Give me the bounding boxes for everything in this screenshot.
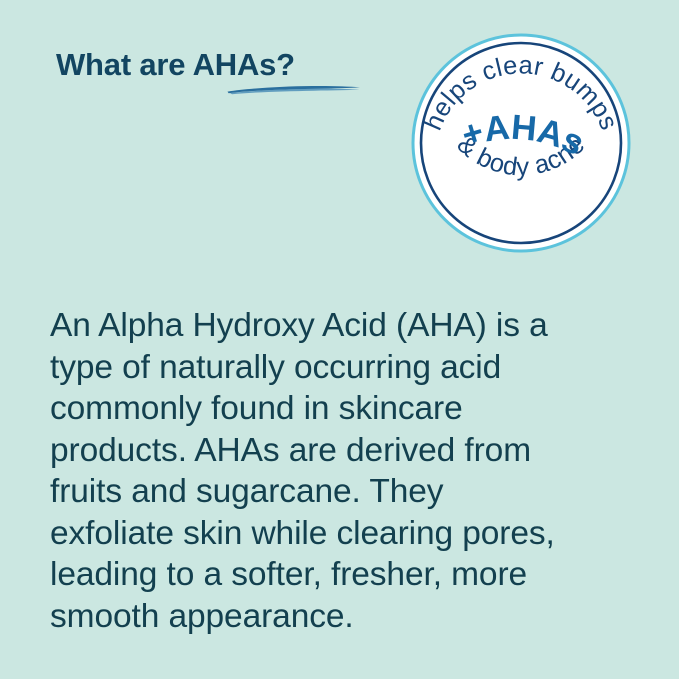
body-line: leading to a softer, fresher, more	[50, 554, 640, 596]
body-line: An Alpha Hydroxy Acid (AHA) is a	[50, 305, 640, 347]
infographic-card: What are AHAs? helps clear	[0, 0, 679, 679]
page-title: What are AHAs?	[56, 46, 386, 84]
body-line: commonly found in skincare	[50, 388, 640, 430]
body-line: fruits and sugarcane. They	[50, 471, 640, 513]
body-line: exfoliate skin while clearing pores,	[50, 513, 640, 555]
brush-underline-icon	[226, 82, 362, 96]
body-line: products. AHAs are derived from	[50, 430, 640, 472]
body-line: smooth appearance.	[50, 596, 640, 638]
stamp-badge: helps clear bumps & body acne +AHAs	[410, 32, 632, 254]
body-paragraph: An Alpha Hydroxy Acid (AHA) is a type of…	[50, 305, 640, 637]
heading-block: What are AHAs?	[56, 46, 386, 108]
body-line: type of naturally occurring acid	[50, 347, 640, 389]
